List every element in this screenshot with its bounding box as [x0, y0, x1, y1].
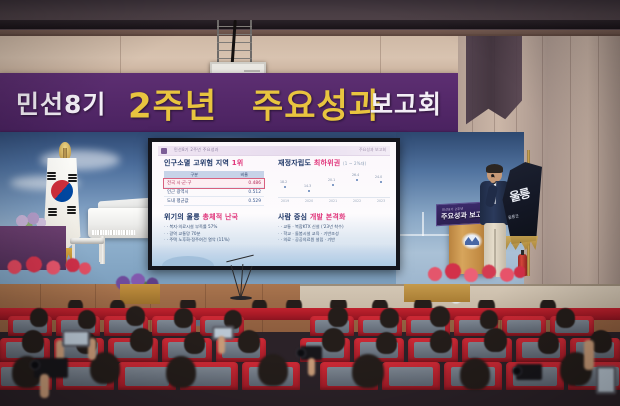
presenter-hair — [486, 164, 503, 173]
chart-x-tick: 2022 — [353, 199, 361, 203]
quadrant-title: 위기의 울릉 총체적 난국 — [164, 214, 238, 221]
organization-flag-subtext: 울릉군 — [507, 213, 519, 221]
table-row: 도내 평균값 0.529 — [164, 197, 264, 206]
quadrant-title-text: 재정자립도 — [278, 159, 311, 167]
seated-audience — [0, 300, 620, 406]
stage-flower-arrangement — [425, 262, 525, 284]
slide-footer-image — [152, 244, 396, 266]
table-header-cell: 비율 — [224, 171, 264, 179]
audience-head — [460, 358, 490, 390]
table-cell-label: 도내 평균값 — [164, 197, 224, 206]
audience-head — [430, 330, 452, 353]
theater-seat[interactable] — [382, 362, 440, 390]
projection-screen: 민선8기 2주년 주요성과 주요성과 보고회 인구소멸 고위험 지역 1위 구분… — [148, 138, 400, 270]
chart-point-label: 18.2 — [280, 180, 287, 184]
bullet-item: · 주택 노후화·정주여건 열악 (11%) — [164, 237, 238, 244]
table-cell-value: 0.529 — [224, 197, 264, 206]
quadrant-title: 재정자립도 최하위권 (1 ~ 2%대) — [278, 160, 390, 167]
quadrant-title-text: 사람 중심 — [278, 213, 307, 221]
audience-arm — [308, 358, 315, 376]
slide-data-table: 구분 비율 전국 시·군·구 0.486 인근 광역시 0.512 도내 평균값… — [164, 171, 264, 206]
quadrant-title-highlight: 1위 — [232, 159, 244, 167]
slide-bullet-list: · 복지·의료시설 부족률 57% · 광역 교통망 70분 · 주택 노후화·… — [164, 224, 238, 244]
chart-x-tick: 2020 — [305, 199, 313, 203]
slide-quadrant-bottom-right: 사람 중심 개발 본격화 · 교통 · 복합KTX 신설 ('23년 착수) ·… — [278, 214, 346, 244]
audience-head — [480, 310, 498, 329]
table-cell-label: 전국 시·군·구 — [164, 179, 224, 188]
piano-keys — [92, 230, 136, 235]
audience-arm — [40, 374, 49, 398]
organization-flag-emblem: 울릉 — [508, 184, 535, 211]
slide-quadrant-bottom-left: 위기의 울릉 총체적 난국 · 복지·의료시설 부족률 57% · 광역 교통망… — [164, 214, 238, 244]
audience-head — [258, 354, 288, 386]
camera-icon — [34, 358, 68, 378]
quadrant-title: 사람 중심 개발 본격화 — [278, 214, 346, 221]
event-banner: 민선8기 2주년 주요성과 보고회 — [0, 73, 458, 132]
quadrant-title: 인구소멸 고위험 지역 1위 — [164, 160, 264, 167]
quadrant-title-text: 위기의 울릉 — [164, 213, 200, 221]
chart-x-tick: 2019 — [281, 199, 289, 203]
slide-quadrant-top-right: 재정자립도 최하위권 (1 ~ 2%대) 18.2 14.3 20.1 26.4… — [278, 160, 390, 202]
lectern-sign: 민선8기 2주년 주요성과 보고회 — [436, 202, 482, 226]
lectern-sign-line2: 주요성과 보고회 — [441, 209, 482, 221]
quadrant-title-sub: (1 ~ 2%대) — [343, 161, 366, 166]
slide-quadrant-top-left: 인구소멸 고위험 지역 1위 구분 비율 전국 시·군·구 0.486 인근 광… — [164, 160, 264, 206]
table-row: 전국 시·군·구 0.486 — [164, 179, 264, 188]
audience-head — [174, 308, 193, 328]
quadrant-title-highlight: 최하위권 — [314, 159, 341, 167]
stage-flower-arrangement-left — [4, 256, 92, 276]
table-cell-value: 0.486 — [224, 179, 264, 188]
audience-head — [376, 332, 397, 354]
presenter-hand — [490, 177, 496, 183]
table-cell-label: 인근 광역시 — [164, 188, 224, 197]
audience-head — [328, 306, 348, 327]
quadrant-title-highlight: 개발 본격화 — [310, 213, 346, 221]
bullet-item: · 의료 · 공공의료원 설립 · 기반 — [278, 237, 346, 244]
banner-segment-4: 보고회 — [370, 85, 442, 121]
slide-header-title: 민선8기 2주년 주요성과 — [174, 147, 219, 153]
quadrant-title-text: 인구소멸 고위험 지역 — [164, 159, 229, 167]
audience-head — [322, 328, 345, 352]
chart-x-tick: 2021 — [329, 199, 337, 203]
audience-head — [184, 332, 205, 354]
audience-arm — [584, 340, 594, 370]
chart-x-tick: 2023 — [377, 199, 385, 203]
bullet-item: · 교통 · 복합KTX 신설 ('23년 착수) — [278, 224, 346, 231]
audience-head — [166, 356, 196, 388]
audience-head — [556, 308, 575, 328]
chart-point-label: 24.0 — [375, 175, 382, 179]
quadrant-title-highlight: 총체적 난국 — [202, 213, 238, 221]
ceiling-beam — [0, 20, 620, 29]
audience-head — [538, 332, 559, 354]
presentation-slide: 민선8기 2주년 주요성과 주요성과 보고회 인구소멸 고위험 지역 1위 구분… — [152, 142, 396, 266]
smartphone-icon — [596, 366, 616, 394]
theater-seat[interactable] — [502, 316, 546, 336]
banner-segment-3: 주요성과 — [252, 78, 381, 127]
audience-head — [30, 308, 48, 327]
chart-point-label: 26.4 — [352, 173, 359, 177]
smartphone-icon — [62, 330, 90, 347]
audience-head — [380, 308, 399, 328]
slide-header: 민선8기 2주년 주요성과 주요성과 보고회 — [158, 146, 390, 156]
audience-arm — [218, 336, 225, 354]
audience-head — [22, 330, 44, 353]
ceiling — [0, 0, 620, 34]
slide-line-chart: 18.2 14.3 20.1 26.4 24.0 2019 2020 2021 … — [278, 172, 390, 202]
slide-bullet-list: · 교통 · 복합KTX 신설 ('23년 착수) · 학교 · 돌봄시설 교육… — [278, 224, 346, 244]
banner-segment-2: 2주년 — [128, 78, 217, 127]
slide-badge-icon — [161, 148, 167, 154]
audience-head — [430, 306, 450, 327]
chart-point-label: 14.3 — [304, 184, 311, 188]
audience-head — [130, 328, 153, 352]
camera-icon — [516, 364, 542, 380]
audience-head — [352, 354, 384, 388]
audience-head — [484, 328, 507, 352]
table-row: 인근 광역시 0.512 — [164, 188, 264, 197]
table-cell-value: 0.512 — [224, 188, 264, 197]
table-header-cell: 구분 — [164, 171, 224, 179]
banner-segment-1: 민선8기 — [16, 85, 106, 121]
audience-head — [78, 310, 96, 329]
audience-head — [126, 306, 145, 326]
floor-microphone-stand — [228, 258, 254, 298]
audience-head — [238, 330, 260, 353]
auditorium-scene: 민선8기 2주년 주요성과 보고회 — [0, 0, 620, 406]
slide-header-note: 주요성과 보고회 — [359, 147, 386, 153]
chart-point-label: 20.1 — [328, 178, 335, 182]
